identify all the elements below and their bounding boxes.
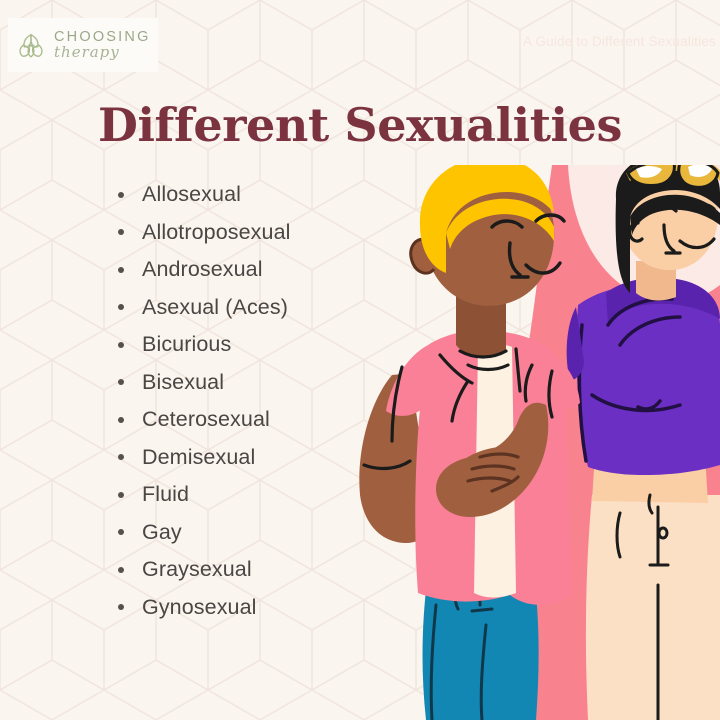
bullet-dot-icon [118,492,124,498]
poster-canvas: CHOOSING therapy A Guide to Different Se… [0,0,720,720]
bullet-dot-icon [118,417,124,423]
bullet-dot-icon [118,304,124,310]
bullet-dot-icon [118,529,124,535]
list-item: Allosexual [118,176,291,214]
list-item-label: Allotroposexual [142,220,291,245]
bullet-dot-icon [118,267,124,273]
list-item-label: Graysexual [142,557,252,582]
lotus-leaf-icon [14,28,48,62]
list-item: Androsexual [118,251,291,289]
list-item-label: Gynosexual [142,595,257,620]
logo-wordmark: CHOOSING therapy [54,30,151,61]
bullet-dot-icon [118,567,124,573]
brand-logo[interactable]: CHOOSING therapy [8,18,158,72]
bullet-dot-icon [118,454,124,460]
list-item: Gay [118,514,291,552]
list-item-label: Fluid [142,482,189,507]
bullet-dot-icon [118,229,124,235]
list-item: Bicurious [118,326,291,364]
page-title: Different Sexualities [0,98,720,152]
list-item: Fluid [118,476,291,514]
logo-name: CHOOSING [54,30,151,45]
bullet-dot-icon [118,342,124,348]
list-item-label: Demisexual [142,445,255,470]
list-item-label: Androsexual [142,257,263,282]
list-item: Allotroposexual [118,214,291,252]
list-item: Asexual (Aces) [118,289,291,327]
two-people-embracing-illustration [320,165,720,720]
list-item: Graysexual [118,551,291,589]
list-item-label: Bicurious [142,332,231,357]
guide-tag: A Guide to Different Sexualities [523,34,716,49]
bullet-dot-icon [118,604,124,610]
list-item: Demisexual [118,439,291,477]
list-item-label: Allosexual [142,182,241,207]
bullet-dot-icon [118,192,124,198]
list-item-label: Bisexual [142,370,224,395]
list-item: Gynosexual [118,589,291,627]
sexualities-list: AllosexualAllotroposexualAndrosexualAsex… [118,176,291,626]
bullet-dot-icon [118,379,124,385]
list-item-label: Ceterosexual [142,407,270,432]
logo-subtitle: therapy [54,45,151,60]
list-item: Bisexual [118,364,291,402]
list-item-label: Asexual (Aces) [142,295,288,320]
list-item-label: Gay [142,520,182,545]
list-item: Ceterosexual [118,401,291,439]
